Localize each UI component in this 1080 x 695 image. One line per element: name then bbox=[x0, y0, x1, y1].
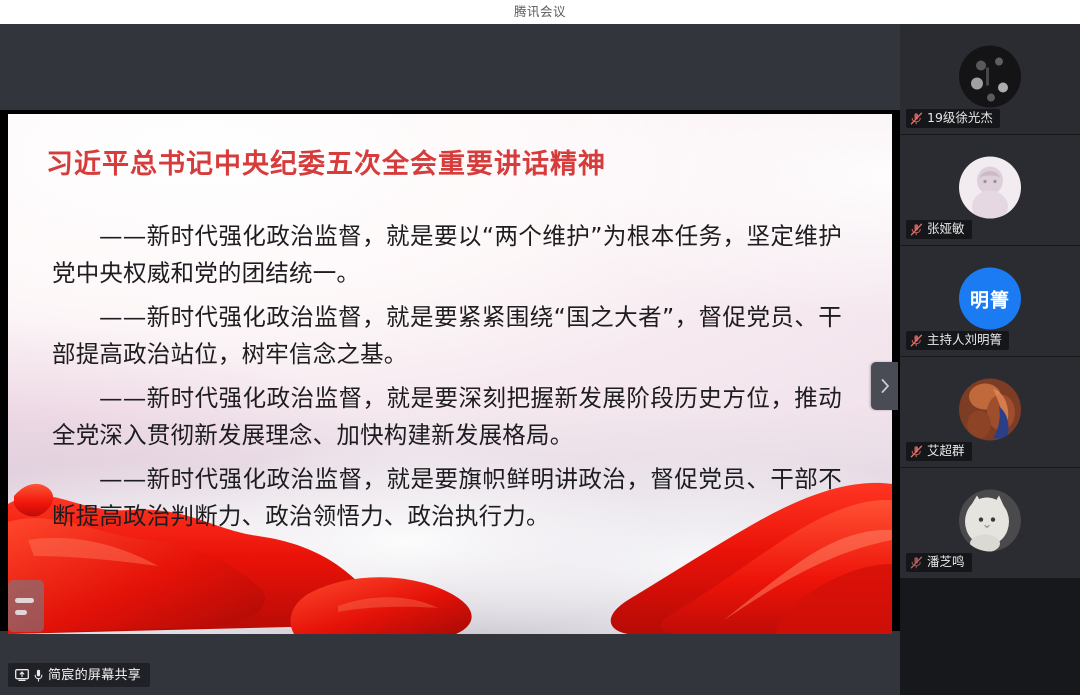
avatar bbox=[959, 379, 1021, 441]
presentation-slide: 习近平总书记中央纪委五次全会重要讲话精神 ——新时代强化政治监督，就是要以“两个… bbox=[8, 114, 892, 634]
slide-body: ——新时代强化政治监督，就是要以“两个维护”为根本任务，坚定维护党中央权威和党的… bbox=[52, 218, 842, 542]
microphone-muted-icon bbox=[910, 445, 923, 458]
window-title: 腾讯会议 bbox=[514, 6, 566, 19]
microphone-muted-icon bbox=[910, 112, 923, 125]
letterbox-top bbox=[0, 24, 900, 110]
microphone-muted-icon bbox=[910, 223, 923, 236]
annotation-toolbar-handle[interactable] bbox=[8, 580, 44, 632]
screen-share-icon bbox=[15, 669, 29, 681]
sidebar-collapse-button[interactable] bbox=[871, 362, 898, 410]
participant-sidebar[interactable]: 19级徐光杰 bbox=[900, 24, 1080, 695]
tencent-meeting-window: 腾讯会议 bbox=[0, 0, 1080, 695]
participant-name-badge: 艾超群 bbox=[906, 442, 972, 461]
participant-name-badge: 潘芝鸣 bbox=[906, 553, 972, 572]
slide-paragraph: ——新时代强化政治监督，就是要以“两个维护”为根本任务，坚定维护党中央权威和党的… bbox=[52, 218, 842, 292]
participant-name: 19级徐光杰 bbox=[927, 112, 993, 125]
participant-name: 张娅敏 bbox=[927, 223, 965, 236]
participant-name-badge: 19级徐光杰 bbox=[906, 109, 1000, 128]
chevron-right-icon bbox=[880, 378, 890, 394]
participant-list-empty-area bbox=[900, 579, 1080, 689]
participant-tile[interactable]: 张娅敏 bbox=[900, 135, 1080, 246]
participant-name: 潘芝鸣 bbox=[927, 556, 965, 569]
participant-tile[interactable]: 潘芝鸣 bbox=[900, 468, 1080, 579]
window-title-bar: 腾讯会议 bbox=[0, 0, 1080, 25]
avatar-photo bbox=[959, 46, 1021, 108]
avatar: 明箐 bbox=[959, 268, 1021, 330]
participant-name-badge: 张娅敏 bbox=[906, 220, 972, 239]
slide-title: 习近平总书记中央纪委五次全会重要讲话精神 bbox=[46, 142, 606, 181]
shared-screen-stage[interactable]: 习近平总书记中央纪委五次全会重要讲话精神 ——新时代强化政治监督，就是要以“两个… bbox=[0, 24, 900, 695]
participant-name-badge: 主持人刘明箐 bbox=[906, 331, 1009, 350]
slide-paragraph: ——新时代强化政治监督，就是要深刻把握新发展阶段历史方位，推动全党深入贯彻新发展… bbox=[52, 380, 842, 454]
avatar bbox=[959, 157, 1021, 219]
handle-bar-icon bbox=[15, 598, 34, 603]
screen-share-status: 简宸的屏幕共享 bbox=[8, 663, 150, 687]
participant-name: 主持人刘明箐 bbox=[927, 334, 1002, 347]
microphone-muted-icon bbox=[910, 556, 923, 569]
participant-tile[interactable]: 19级徐光杰 bbox=[900, 24, 1080, 135]
screen-share-label: 简宸的屏幕共享 bbox=[48, 669, 141, 682]
avatar bbox=[959, 490, 1021, 552]
participant-tile[interactable]: 艾超群 bbox=[900, 357, 1080, 468]
slide-paragraph: ——新时代强化政治监督，就是要旗帜鲜明讲政治，督促党员、干部不断提高政治判断力、… bbox=[52, 461, 842, 535]
participant-name: 艾超群 bbox=[927, 445, 965, 458]
slide-paragraph: ——新时代强化政治监督，就是要紧紧围绕“国之大者”，督促党员、干部提高政治站位，… bbox=[52, 299, 842, 373]
handle-bar-icon bbox=[15, 610, 27, 615]
avatar-photo bbox=[959, 490, 1021, 552]
avatar-initials: 明箐 bbox=[959, 268, 1021, 330]
microphone-icon bbox=[34, 669, 43, 682]
avatar-photo bbox=[959, 157, 1021, 219]
avatar-photo bbox=[959, 379, 1021, 441]
microphone-muted-icon bbox=[910, 334, 923, 347]
participant-tile[interactable]: 明箐 主持人刘明箐 bbox=[900, 246, 1080, 357]
avatar bbox=[959, 46, 1021, 108]
